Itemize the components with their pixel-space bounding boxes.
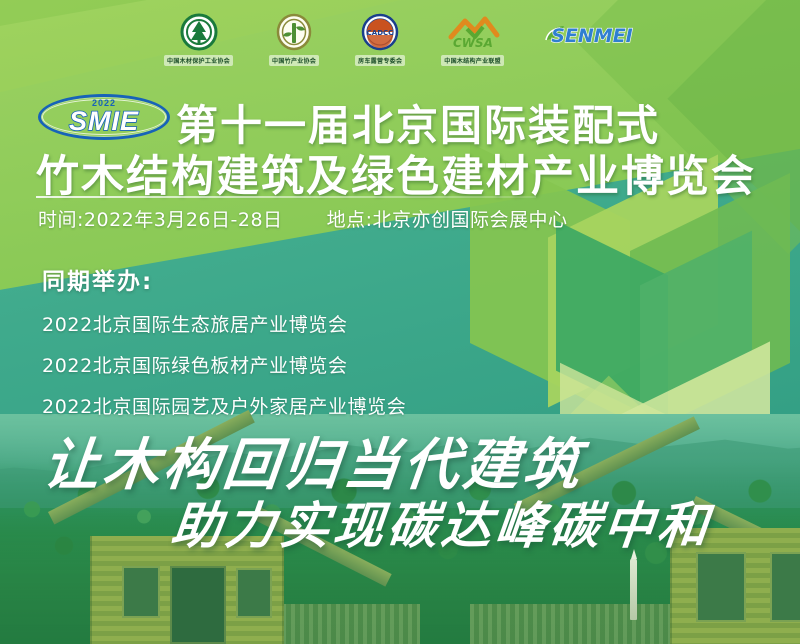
slogan-line-2: 助力实现碳达峰碳中和 [168,486,716,558]
sponsor-name: 中国木结构产业联盟 [441,55,504,66]
smie-logo: 2022 SMIE [38,94,170,140]
page-title-line-2: 竹木结构建筑及绿色建材产业博览会 [36,142,756,204]
concurrent-events-list: 2022北京国际生态旅居产业博览会 2022北京国际绿色板材产业博览会 2022… [42,310,406,419]
list-item: 2022北京国际生态旅居产业博览会 [42,310,406,337]
cabin-window [122,566,160,618]
svg-text:CWSA: CWSA [453,36,493,50]
cabin-window [236,568,272,618]
event-venue: 地点:北京亦创国际会展中心 [327,205,568,232]
sponsor-name: 中国木材保护工业协会 [164,55,233,66]
sponsor-logo-row: 中国木材保护工业协会 中国竹产业协会 CADCC 房车露营专委会 [0,8,800,70]
concurrent-events-heading: 同期举办: [42,262,406,296]
title-divider [36,196,536,198]
list-item: 2022北京国际园艺及户外家居产业博览会 [42,392,406,419]
leaf-sprout-icon: SENMEI [540,18,636,50]
house-roof-icon: CWSA [445,13,501,53]
sponsor-logo-cadcc-rv-camping-committee: CADCC 房车露营专委会 [355,13,405,66]
list-item: 2022北京国际绿色板材产业博览会 [42,351,406,378]
sponsor-logo-cwsa-wood-structure-alliance: CWSA 中国木结构产业联盟 [441,13,504,66]
sponsor-logo-china-wood-protection-association: 中国木材保护工业协会 [164,13,233,66]
event-date: 时间:2022年3月26日-28日 [38,205,283,232]
concurrent-events-section: 同期举办: 2022北京国际生态旅居产业博览会 2022北京国际绿色板材产业博览… [42,262,406,433]
event-meta: 时间:2022年3月26日-28日 地点:北京亦创国际会展中心 [38,205,567,232]
sponsor-name: 房车露营专委会 [355,55,405,66]
smie-logo-text: SMIE [38,106,170,136]
exhibition-poster: 中国木材保护工业协会 中国竹产业协会 CADCC 房车露营专委会 [0,0,800,644]
cabin-door [170,566,226,644]
sponsor-name: 中国竹产业协会 [269,55,319,66]
bamboo-seal-icon [273,13,315,53]
pine-tree-shield-icon [177,13,221,53]
cabin-window [696,552,746,622]
sponsor-logo-senmei: SENMEI SENMEI [540,18,636,60]
svg-text:SENMEI: SENMEI [551,25,633,47]
sponsor-logo-bamboo-industry-association: 中国竹产业协会 [269,13,319,66]
cadcc-badge-icon: CADCC [358,13,402,53]
cabin-window [770,552,800,622]
